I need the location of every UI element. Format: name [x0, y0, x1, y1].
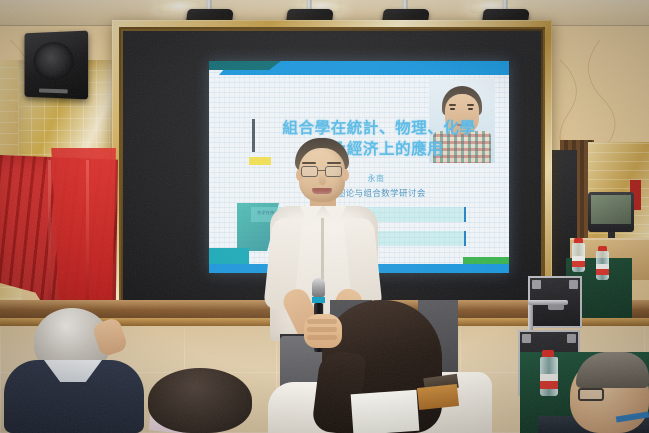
booklet — [417, 384, 459, 410]
speaker-cone — [34, 41, 74, 80]
slide-bottom-teal — [209, 248, 249, 264]
microphone-head — [312, 278, 325, 297]
conference-photo: 組合學在統計、物理、化學 以及經济上的應用 永南 20 上海图论与组合数学研讨会… — [0, 0, 649, 433]
audience-glasses — [578, 388, 604, 401]
drape-fold — [48, 160, 51, 310]
monitor-screen — [591, 195, 631, 224]
glasses-lens-right — [325, 166, 342, 177]
water-bottle — [572, 238, 585, 272]
stage-monitor — [588, 192, 634, 232]
slide-bottom-green-accent — [463, 257, 509, 264]
title-rule — [252, 119, 255, 152]
paper-on-table — [351, 390, 420, 433]
pa-speaker — [25, 31, 89, 100]
audience-head-dark-hair — [148, 368, 252, 433]
slide-top-accent — [209, 61, 281, 70]
equipment-stand-bar — [528, 300, 568, 305]
presenter-mouth — [312, 188, 332, 194]
presenter-ear-right — [342, 169, 349, 181]
slide-title-line1: 組合學在統計、物理、化學 — [282, 119, 475, 137]
speaker-badge — [39, 88, 68, 93]
drape-fold — [86, 160, 89, 310]
presenter-hands — [304, 314, 342, 348]
glasses-lens-left — [301, 166, 318, 177]
water-bottle — [596, 246, 609, 280]
glasses-bridge — [318, 170, 325, 171]
water-bottle — [540, 350, 558, 396]
